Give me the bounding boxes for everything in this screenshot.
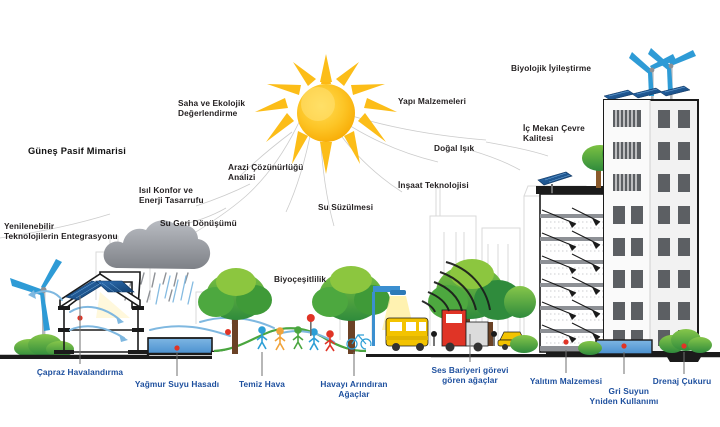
tower-louvers bbox=[613, 110, 641, 191]
tall-tower bbox=[604, 48, 698, 352]
label-havayi-arindiran-agaclar: Havayı Arındıran Ağaçlar bbox=[310, 380, 398, 400]
label-su-geri-donusumu: Su Geri Dönüşümü bbox=[160, 219, 237, 229]
label-biyocesitlilik: Biyoçeşitlilik bbox=[274, 275, 326, 285]
label-yapi-malzemeleri: Yapı Malzemeleri bbox=[398, 97, 466, 107]
sun-icon bbox=[255, 54, 397, 174]
rainwater-basin bbox=[148, 338, 212, 354]
label-drenaj-cukuru: Drenaj Çukuru bbox=[644, 377, 720, 387]
poster-artwork bbox=[0, 0, 720, 427]
bush-tower-base bbox=[578, 341, 602, 355]
greywater-line1: Gri Suyun Yniden Kullanımı bbox=[590, 386, 659, 406]
label-ses-bariyeri-goren-agaclar: Ses Bariyeri görevi gören ağaçlar bbox=[422, 366, 518, 386]
label-saha-ve-ekolojik-degerlendirme: Saha ve Ekolojik Değerlendirme bbox=[178, 99, 245, 119]
label-biyolojik-iyilestirme: Biyolojik İyileştirme bbox=[511, 64, 591, 74]
label-insaat-teknolojisi: İnşaat Teknolojisi bbox=[398, 181, 469, 191]
label-su-suzulmesi: Su Süzülmesi bbox=[318, 203, 373, 213]
label-isil-konfor-ve-enerji-tasarrufu: Isıl Konfor ve Enerji Tasarrufu bbox=[139, 186, 204, 206]
label-temiz-hava: Temiz Hava bbox=[228, 380, 296, 390]
label-ic-mekan-cevre-kalitesi: İç Mekan Çevre Kalitesi bbox=[523, 124, 585, 144]
greywater-tank bbox=[596, 340, 652, 354]
label-yagmur-suyu-hasadi: Yağmur Suyu Hasadı bbox=[126, 380, 228, 390]
label-arazi-cozunurlugu-analizi: Arazi Çözünürlüğü Analizi bbox=[228, 163, 303, 183]
bus-icon bbox=[386, 318, 428, 351]
label-capraz-havalandirma: Çapraz Havalandırma bbox=[28, 368, 132, 378]
label-yenilenebilir-teknolojilerin-entegrasyonu: Yenilenebilir Teknolojilerin Entegrasyon… bbox=[4, 222, 118, 242]
label-dogal-isik: Doğal Işık bbox=[434, 144, 474, 154]
solar-panel-array-icon bbox=[604, 86, 690, 100]
infographic-poster: Güneş Pasif Mimarisi Saha ve Ekolojik De… bbox=[0, 0, 720, 427]
poster-title: Güneş Pasif Mimarisi bbox=[28, 146, 126, 157]
